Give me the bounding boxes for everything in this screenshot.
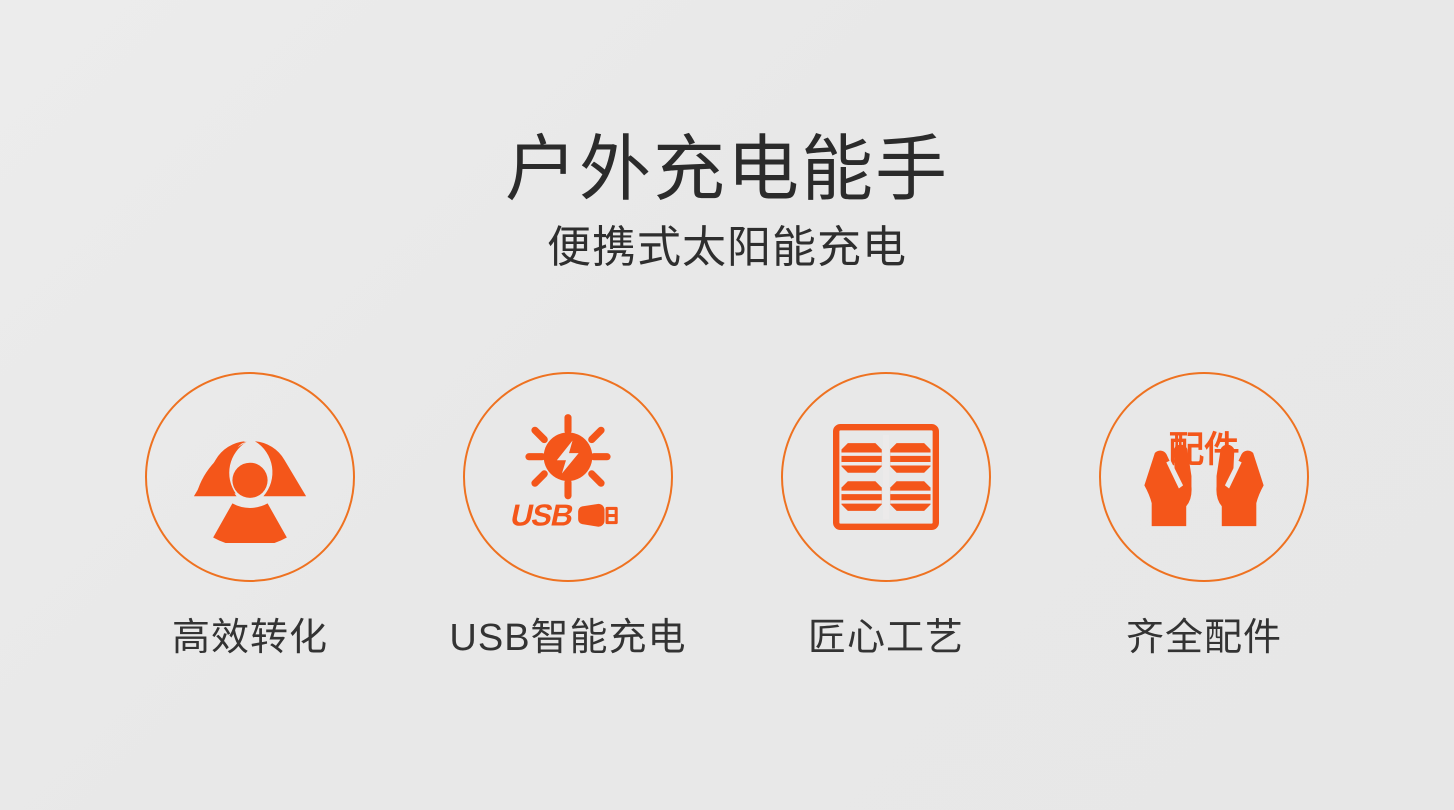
usb-solar-charge-icon: USB — [497, 406, 639, 548]
feature-item-usb-charging[interactable]: USB USB智能充电 — [409, 372, 727, 660]
feature-icon-circle: USB — [463, 372, 673, 582]
heading-block: 户外充电能手 便携式太阳能充电 — [0, 132, 1454, 272]
feature-label: 齐全配件 — [1126, 618, 1282, 660]
hands-accessories-icon: 配件 — [1136, 409, 1272, 545]
usb-icon-text: USB — [508, 498, 577, 533]
page-title: 户外充电能手 — [0, 132, 1454, 210]
feature-icon-circle — [145, 372, 355, 582]
slide-canvas: 户外充电能手 便携式太阳能充电 — [0, 0, 1454, 810]
feature-item-craftsmanship[interactable]: 匠心工艺 — [727, 372, 1045, 660]
feature-label: USB智能充电 — [449, 618, 686, 660]
solar-panel-icon — [833, 424, 939, 530]
feature-list: 高效转化 — [0, 372, 1454, 660]
page-subtitle: 便携式太阳能充电 — [0, 224, 1454, 272]
feature-icon-circle: 配件 — [1099, 372, 1309, 582]
feature-icon-circle — [781, 372, 991, 582]
feature-item-accessories[interactable]: 配件 齐全配件 — [1045, 372, 1363, 660]
feature-label: 高效转化 — [172, 618, 328, 660]
radiation-icon — [184, 411, 316, 543]
feature-item-high-efficiency[interactable]: 高效转化 — [91, 372, 409, 660]
feature-label: 匠心工艺 — [808, 618, 964, 660]
